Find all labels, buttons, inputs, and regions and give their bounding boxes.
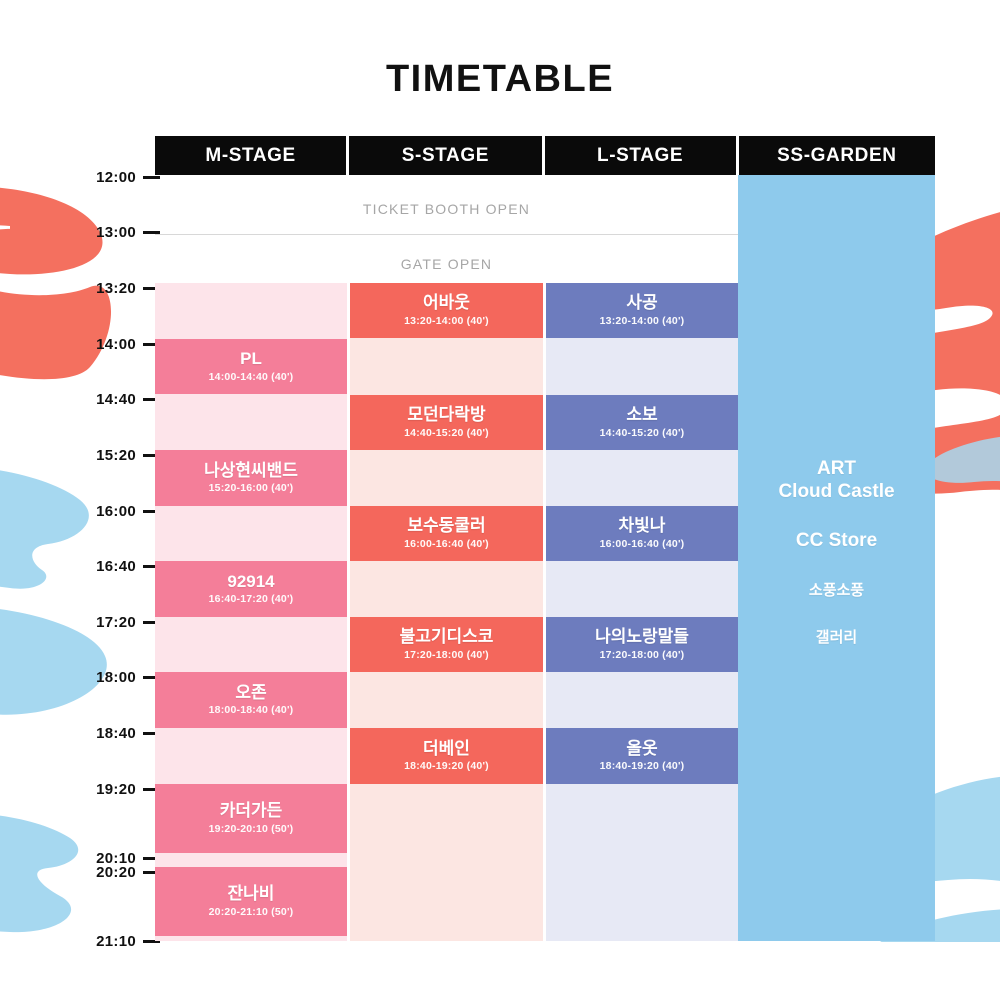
s-stage-track bbox=[350, 283, 543, 941]
timetable-grid: M-STAGE S-STAGE L-STAGE SS-GARDEN TICKET… bbox=[155, 136, 935, 941]
garden-entry-sopungsopung: 소풍소풍 bbox=[738, 579, 935, 600]
axis-tick-1720: 17:20 bbox=[96, 614, 160, 630]
event-m-pl[interactable]: PL 14:00-14:40 (40') bbox=[155, 339, 347, 394]
axis-tick-2020: 20:20 bbox=[96, 864, 160, 880]
event-time: 19:20-20:10 (50') bbox=[209, 823, 294, 835]
l-stage-track bbox=[546, 283, 738, 941]
axis-tick-1640: 16:40 bbox=[96, 558, 160, 574]
event-time: 18:40-19:20 (40') bbox=[404, 760, 489, 772]
event-l-chabitna[interactable]: 차빛나 16:00-16:40 (40') bbox=[546, 506, 738, 561]
event-name: PL bbox=[240, 350, 262, 368]
event-name: 소보 bbox=[626, 406, 657, 424]
axis-tick-label: 18:40 bbox=[96, 725, 136, 742]
axis-tick-label: 21:10 bbox=[96, 933, 136, 950]
event-name: 올옷 bbox=[626, 740, 657, 758]
garden-entry-line1: ART bbox=[738, 457, 935, 480]
axis-tick-label: 14:40 bbox=[96, 391, 136, 408]
event-l-sagong[interactable]: 사공 13:20-14:00 (40') bbox=[546, 283, 738, 338]
event-time: 14:40-15:20 (40') bbox=[600, 427, 685, 439]
axis-tick-1800: 18:00 bbox=[96, 669, 160, 685]
ss-garden-entries: ART Cloud Castle CC Store 소풍소풍 갤러리 bbox=[738, 457, 935, 647]
axis-tick-label: 15:20 bbox=[96, 447, 136, 464]
axis-tick-1300: 13:00 bbox=[96, 224, 160, 240]
stage-header-row: M-STAGE S-STAGE L-STAGE SS-GARDEN bbox=[155, 136, 935, 175]
event-l-sobo[interactable]: 소보 14:40-15:20 (40') bbox=[546, 395, 738, 450]
timetable-page: TIMETABLE 12:00 13:00 13:20 14:00 14:40 … bbox=[0, 0, 1000, 1000]
event-name: 모던다락방 bbox=[407, 406, 485, 424]
event-l-allot[interactable]: 올옷 18:40-19:20 (40') bbox=[546, 728, 738, 784]
column-m-stage: PL 14:00-14:40 (40') 나상현씨밴드 15:20-16:00 … bbox=[155, 175, 347, 941]
garden-entry-cc-store: CC Store bbox=[738, 529, 935, 552]
event-time: 17:20-18:00 (40') bbox=[600, 649, 685, 661]
time-axis: 12:00 13:00 13:20 14:00 14:40 15:20 16:0… bbox=[0, 136, 160, 946]
event-time: 16:40-17:20 (40') bbox=[209, 593, 294, 605]
garden-entry-line2: Cloud Castle bbox=[738, 480, 935, 503]
event-time: 13:20-14:00 (40') bbox=[404, 315, 489, 327]
event-name: 92914 bbox=[227, 573, 274, 591]
event-name: 잔나비 bbox=[228, 885, 275, 903]
event-name: 보수동쿨러 bbox=[407, 517, 485, 535]
event-name: 나의노랑말들 bbox=[595, 628, 689, 646]
event-name: 더베인 bbox=[423, 740, 470, 758]
column-header-l-stage[interactable]: L-STAGE bbox=[545, 136, 736, 175]
axis-tick-label: 20:20 bbox=[96, 864, 136, 881]
event-s-bosudongcooler[interactable]: 보수동쿨러 16:00-16:40 (40') bbox=[350, 506, 543, 561]
axis-tick-1200: 12:00 bbox=[96, 169, 160, 185]
axis-tick-1320: 13:20 bbox=[96, 280, 160, 296]
event-s-thevane[interactable]: 더베인 18:40-19:20 (40') bbox=[350, 728, 543, 784]
ss-garden-block[interactable]: ART Cloud Castle CC Store 소풍소풍 갤러리 bbox=[738, 175, 935, 941]
axis-tick-label: 19:20 bbox=[96, 781, 136, 798]
column-header-s-stage[interactable]: S-STAGE bbox=[349, 136, 541, 175]
event-m-ojon[interactable]: 오존 18:00-18:40 (40') bbox=[155, 672, 347, 728]
garden-entry-gallery: 갤러리 bbox=[738, 626, 935, 647]
event-time: 18:40-19:20 (40') bbox=[600, 760, 685, 772]
column-header-ss-garden[interactable]: SS-GARDEN bbox=[739, 136, 935, 175]
column-s-stage: 어바웃 13:20-14:00 (40') 모던다락방 14:40-15:20 … bbox=[350, 175, 543, 941]
axis-tick-label: 13:20 bbox=[96, 280, 136, 297]
event-s-moderndarakbang[interactable]: 모던다락방 14:40-15:20 (40') bbox=[350, 395, 543, 450]
event-m-jannabi[interactable]: 잔나비 20:20-21:10 (50') bbox=[155, 867, 347, 936]
event-name: 카더가든 bbox=[220, 802, 283, 820]
event-time: 18:00-18:40 (40') bbox=[209, 704, 294, 716]
event-m-nasanghyunssiband[interactable]: 나상현씨밴드 15:20-16:00 (40') bbox=[155, 450, 347, 506]
event-s-about[interactable]: 어바웃 13:20-14:00 (40') bbox=[350, 283, 543, 338]
event-time: 17:20-18:00 (40') bbox=[404, 649, 489, 661]
axis-tick-label: 12:00 bbox=[96, 169, 136, 186]
event-time: 16:00-16:40 (40') bbox=[404, 538, 489, 550]
garden-entry-art-cloud-castle: ART Cloud Castle bbox=[738, 457, 935, 503]
column-header-m-stage[interactable]: M-STAGE bbox=[155, 136, 346, 175]
event-s-bulgogidisco[interactable]: 불고기디스코 17:20-18:00 (40') bbox=[350, 617, 543, 672]
event-name: 사공 bbox=[626, 294, 657, 312]
axis-tick-1440: 14:40 bbox=[96, 391, 160, 407]
event-time: 20:20-21:10 (50') bbox=[209, 906, 294, 918]
axis-tick-1920: 19:20 bbox=[96, 781, 160, 797]
event-name: 어바웃 bbox=[423, 294, 470, 312]
event-time: 13:20-14:00 (40') bbox=[600, 315, 685, 327]
axis-tick-label: 17:20 bbox=[96, 614, 136, 631]
axis-tick-2110: 21:10 bbox=[96, 933, 160, 949]
axis-tick-1600: 16:00 bbox=[96, 503, 160, 519]
column-ss-garden: ART Cloud Castle CC Store 소풍소풍 갤러리 bbox=[738, 175, 935, 941]
event-time: 15:20-16:00 (40') bbox=[209, 482, 294, 494]
event-m-cardegarden[interactable]: 카더가든 19:20-20:10 (50') bbox=[155, 784, 347, 853]
page-title: TIMETABLE bbox=[0, 58, 1000, 101]
axis-tick-1840: 18:40 bbox=[96, 725, 160, 741]
event-name: 불고기디스코 bbox=[400, 628, 494, 646]
timetable-body: TICKET BOOTH OPEN GATE OPEN PL 14:00-14:… bbox=[155, 175, 935, 941]
axis-tick-1520: 15:20 bbox=[96, 447, 160, 463]
event-name: 오존 bbox=[235, 684, 266, 702]
event-name: 나상현씨밴드 bbox=[204, 462, 298, 480]
axis-tick-label: 14:00 bbox=[96, 336, 136, 353]
event-l-myyellowhorses[interactable]: 나의노랑말들 17:20-18:00 (40') bbox=[546, 617, 738, 672]
event-time: 14:40-15:20 (40') bbox=[404, 427, 489, 439]
event-time: 14:00-14:40 (40') bbox=[209, 371, 294, 383]
column-l-stage: 사공 13:20-14:00 (40') 소보 14:40-15:20 (40'… bbox=[546, 175, 738, 941]
event-name: 차빛나 bbox=[619, 517, 666, 535]
axis-tick-1400: 14:00 bbox=[96, 336, 160, 352]
axis-tick-label: 13:00 bbox=[96, 224, 136, 241]
event-time: 16:00-16:40 (40') bbox=[600, 538, 685, 550]
axis-tick-label: 18:00 bbox=[96, 669, 136, 686]
axis-tick-label: 16:40 bbox=[96, 558, 136, 575]
axis-tick-label: 16:00 bbox=[96, 503, 136, 520]
event-m-92914[interactable]: 92914 16:40-17:20 (40') bbox=[155, 561, 347, 617]
